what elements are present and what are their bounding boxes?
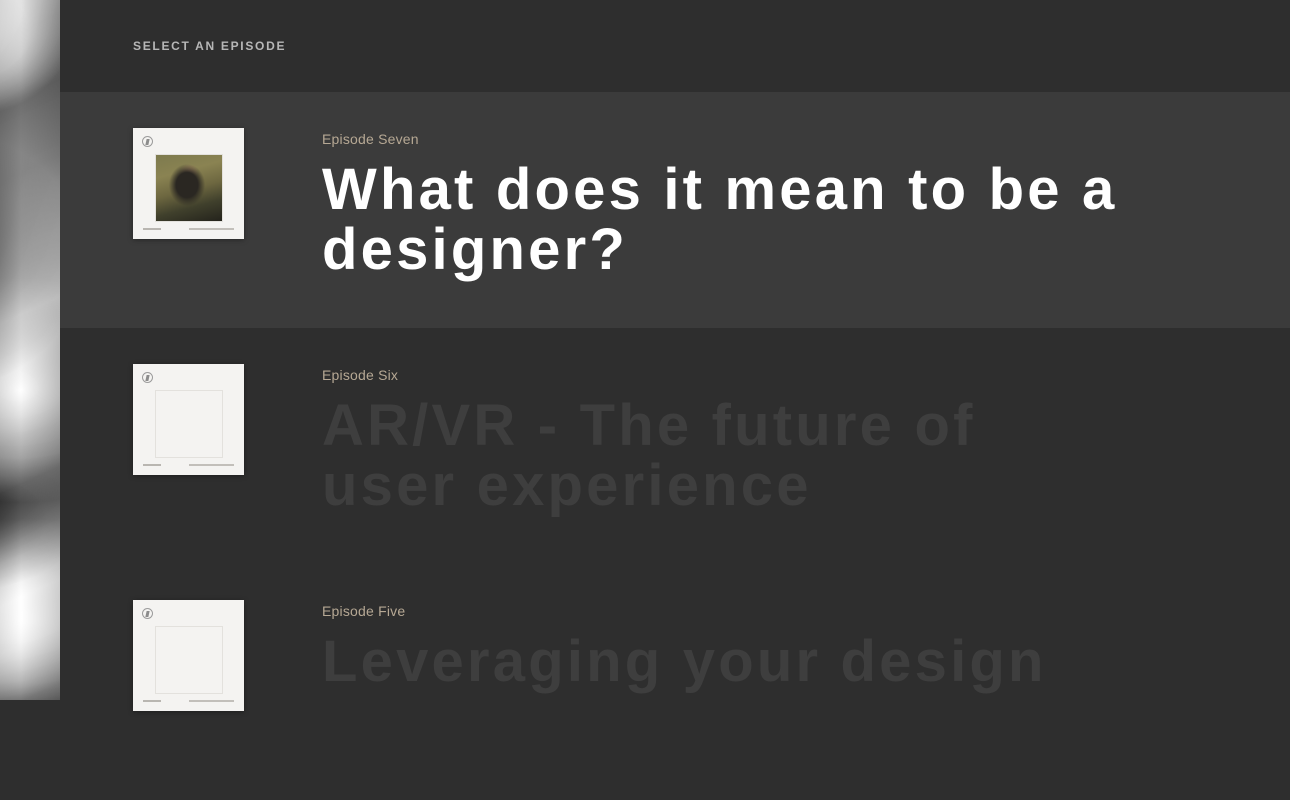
- episode-artwork: [155, 626, 223, 694]
- panel-header: SELECT AN EPISODE: [60, 0, 1290, 92]
- episode-title[interactable]: What does it mean to be a designer?: [322, 160, 1122, 281]
- episode-thumbnail[interactable]: [133, 364, 244, 475]
- episode-text-block: Episode Six AR/VR - The future of user e…: [322, 364, 1290, 517]
- episode-list-panel: SELECT AN EPISODE Episode Seven What doe…: [60, 0, 1290, 700]
- select-an-episode-label: SELECT AN EPISODE: [133, 39, 286, 53]
- episode-row[interactable]: Episode Five Leveraging your design: [60, 564, 1290, 800]
- caption-left-text: [143, 700, 161, 702]
- caption-right-text: [189, 700, 234, 702]
- brand-logo-icon: [142, 372, 153, 383]
- episode-number-label: Episode Six: [322, 367, 1290, 383]
- episode-thumbnail[interactable]: [133, 600, 244, 711]
- episode-title[interactable]: AR/VR - The future of user experience: [322, 396, 1122, 517]
- episode-artwork: [155, 390, 223, 458]
- caption-left-text: [143, 464, 161, 466]
- caption-left-text: [143, 228, 161, 230]
- episode-thumbnail[interactable]: [133, 128, 244, 239]
- background-photo-overlay: [0, 0, 60, 700]
- episode-text-block: Episode Seven What does it mean to be a …: [322, 128, 1290, 281]
- episode-title[interactable]: Leveraging your design: [322, 632, 1122, 692]
- episode-artwork: [155, 154, 223, 222]
- episode-number-label: Episode Five: [322, 603, 1290, 619]
- caption-right-text: [189, 228, 234, 230]
- background-photo-strip: [0, 0, 60, 700]
- brand-logo-icon: [142, 608, 153, 619]
- episode-artwork-caption: [143, 228, 234, 230]
- episode-number-label: Episode Seven: [322, 131, 1290, 147]
- episode-artwork-caption: [143, 700, 234, 702]
- caption-right-text: [189, 464, 234, 466]
- episode-text-block: Episode Five Leveraging your design: [322, 600, 1290, 692]
- episode-row[interactable]: Episode Seven What does it mean to be a …: [60, 92, 1290, 328]
- brand-logo-icon: [142, 136, 153, 147]
- episode-artwork-caption: [143, 464, 234, 466]
- episode-row[interactable]: Episode Six AR/VR - The future of user e…: [60, 328, 1290, 564]
